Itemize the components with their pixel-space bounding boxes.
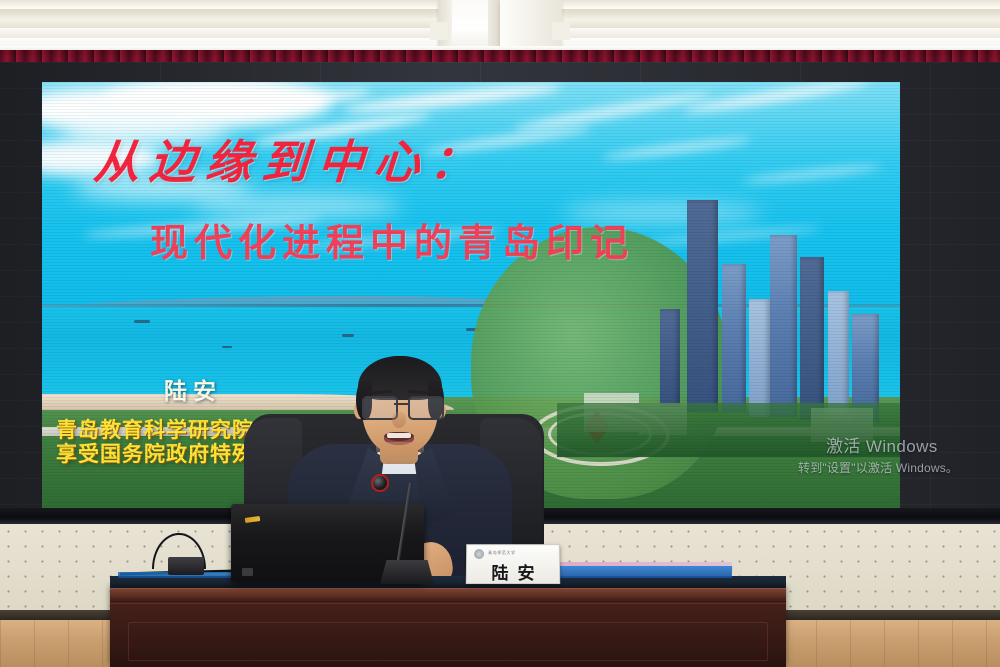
desk-folder <box>556 566 732 578</box>
slide-speaker-name: 陆安 <box>164 372 222 406</box>
nameplate-org-text: 青岛师范大学 <box>488 550 516 556</box>
ceiling-corbel <box>452 0 488 52</box>
chin <box>376 442 424 458</box>
university-logo-icon <box>474 549 484 559</box>
teeth <box>387 433 411 438</box>
nameplate-name: 陆安 <box>467 559 559 584</box>
podium-lip <box>110 588 786 598</box>
boat <box>342 334 354 337</box>
podium-front-panel <box>128 622 768 661</box>
boat <box>134 320 150 323</box>
podium <box>110 588 786 667</box>
microphone-base[interactable] <box>380 560 434 584</box>
lens-right <box>408 396 444 420</box>
glasses-bridge <box>394 403 408 405</box>
laptop-sticker <box>245 516 261 523</box>
laptop-logo-badge <box>242 568 253 576</box>
lecture-hall-scene: 从边缘到中心： 现代化进程中的青岛印记 陆安 青岛教育科学研究院二级教授 享受国… <box>0 0 1000 667</box>
desk-adapter-box <box>168 557 204 575</box>
podium-groove <box>110 601 786 604</box>
slide-subtitle: 现代化进程中的青岛印记 <box>150 212 634 267</box>
slide-title: 从边缘到中心： <box>92 126 489 192</box>
nose <box>392 412 406 428</box>
microphone-head-icon <box>371 474 389 492</box>
desk-nameplate: 青岛师范大学 陆安 <box>466 544 560 584</box>
ceiling <box>0 0 1000 52</box>
boat <box>222 346 232 348</box>
